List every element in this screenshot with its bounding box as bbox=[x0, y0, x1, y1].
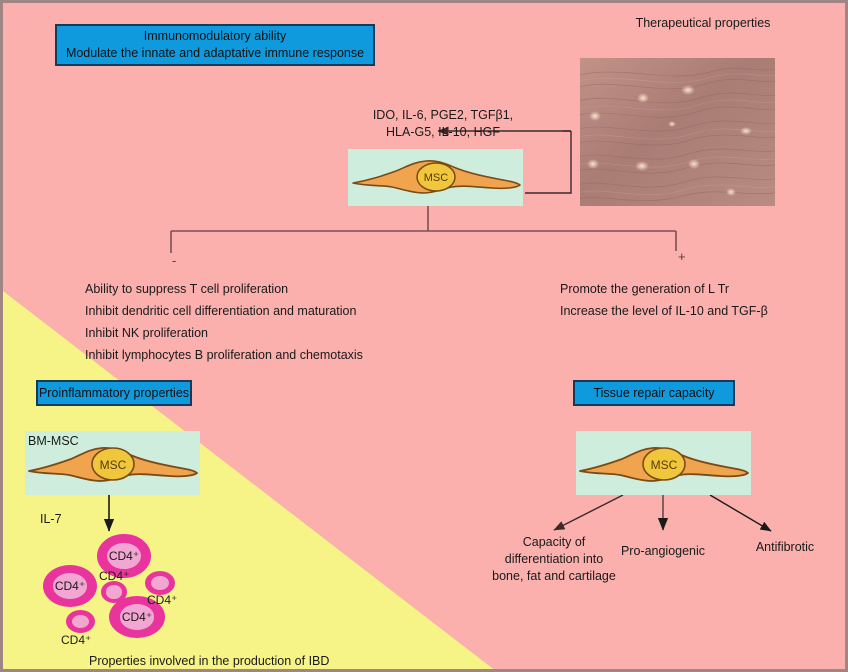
cd4-cell-small-3 bbox=[66, 610, 95, 633]
svg-text:MSC: MSC bbox=[100, 458, 127, 472]
therapeutical-properties-label: Therapeutical properties bbox=[603, 15, 803, 32]
secreted-factors-line-2: HLA-G5, IL-10, HGF bbox=[328, 124, 558, 141]
tissue-repair-outcome-1-line-3: bone, fat and cartilage bbox=[481, 568, 627, 585]
cd4-cell-small-1 bbox=[101, 581, 127, 603]
cd4-cell-small-2-label: CD4⁺ bbox=[147, 593, 177, 607]
positive-effect-1: Promote the generation of L Tr bbox=[560, 281, 729, 298]
cd4-cell-small-3-label: CD4⁺ bbox=[61, 633, 91, 647]
proinflammatory-properties-box: Proinflammatory properties bbox=[36, 380, 192, 406]
negative-effect-4: Inhibit lymphocytes B proliferation and … bbox=[85, 347, 363, 364]
svg-text:MSC: MSC bbox=[651, 458, 678, 472]
negative-effect-3: Inhibit NK proliferation bbox=[85, 325, 208, 342]
negative-sign: - bbox=[172, 253, 176, 268]
tissue-repair-outcome-2: Pro-angiogenic bbox=[603, 543, 723, 560]
msc-culture-micrograph bbox=[580, 58, 775, 206]
msc-cell-panel-tissue-repair: MSC bbox=[576, 431, 751, 495]
cd4-cell-large-2: CD4⁺ bbox=[43, 565, 97, 607]
secreted-factors-line-1: IDO, IL-6, PGE2, TGFβ1, bbox=[328, 107, 558, 124]
positive-sign: + bbox=[678, 249, 686, 264]
svg-text:MSC: MSC bbox=[424, 172, 449, 184]
cd4-cell-small-1-label: CD4⁺ bbox=[99, 569, 129, 583]
negative-effect-1: Ability to suppress T cell proliferation bbox=[85, 281, 288, 298]
ibd-caption: Properties involved in the production of… bbox=[89, 653, 329, 670]
positive-effect-2: Increase the level of IL-10 and TGF-β bbox=[560, 303, 768, 320]
immunomodulatory-subtitle: Modulate the innate and adaptative immun… bbox=[66, 45, 364, 62]
tissue-repair-title: Tissue repair capacity bbox=[593, 385, 714, 402]
msc-cell-panel-top: MSC bbox=[348, 149, 523, 206]
negative-effect-2: Inhibit dendritic cell differentiation a… bbox=[85, 303, 356, 320]
bm-msc-label: BM-MSC bbox=[28, 434, 79, 448]
immunomodulatory-title: Immunomodulatory ability bbox=[144, 28, 286, 45]
cd4-cell-label: CD4⁺ bbox=[109, 549, 139, 563]
proinflammatory-title: Proinflammatory properties bbox=[39, 385, 189, 402]
immunomodulatory-ability-box: Immunomodulatory ability Modulate the in… bbox=[55, 24, 375, 66]
il7-label: IL-7 bbox=[40, 511, 62, 528]
cd4-cell-label: CD4⁺ bbox=[55, 579, 85, 593]
tissue-repair-outcome-3: Antifibrotic bbox=[733, 539, 837, 556]
figure-canvas: Immunomodulatory ability Modulate the in… bbox=[0, 0, 848, 672]
cd4-cell-small-2 bbox=[145, 571, 175, 595]
cd4-cell-label: CD4⁺ bbox=[122, 610, 152, 624]
bm-msc-cell-panel: MSC BM-MSC bbox=[25, 431, 200, 495]
tissue-repair-capacity-box: Tissue repair capacity bbox=[573, 380, 735, 406]
